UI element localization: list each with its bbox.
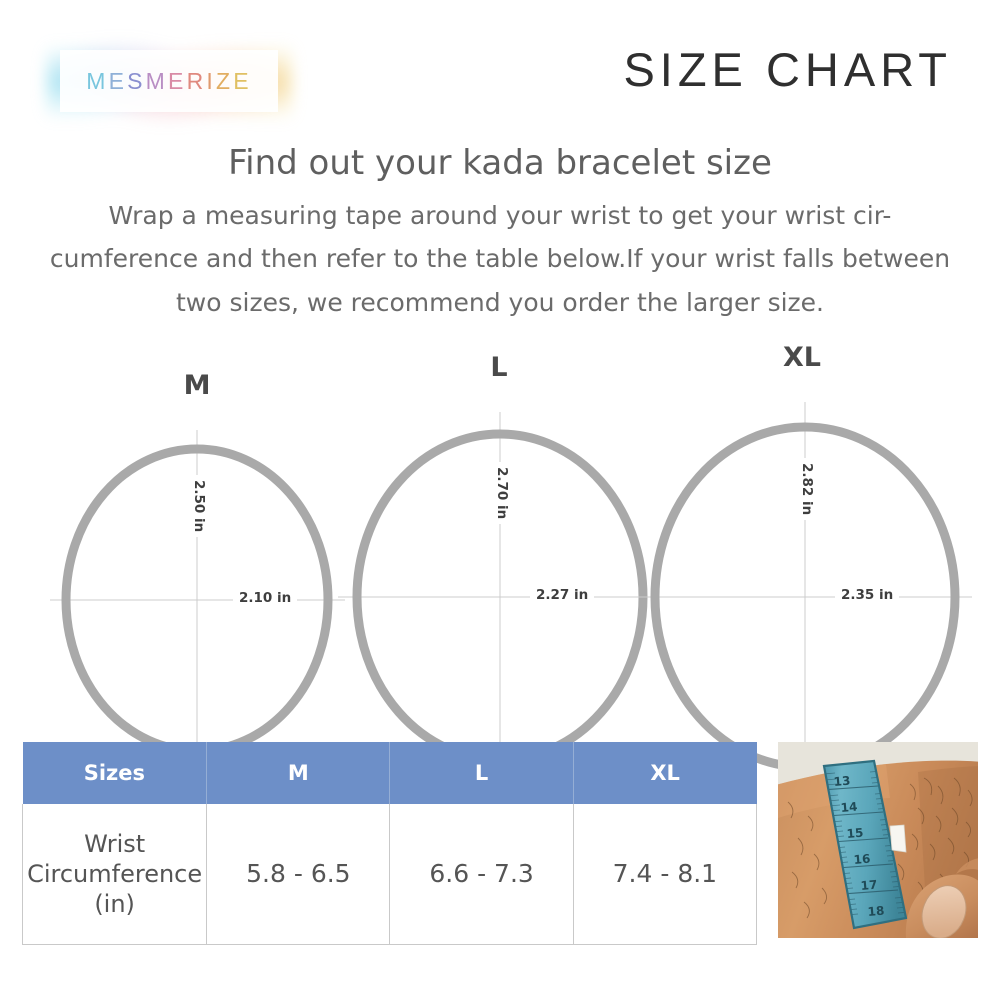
oval-width-m: 2.10 in	[233, 589, 297, 607]
svg-text:18: 18	[867, 904, 885, 919]
oval-height-m: 2.50 in	[190, 475, 208, 537]
svg-text:14: 14	[840, 800, 858, 815]
oval-figure-m: M 2.50 in 2.10 in	[30, 370, 365, 770]
svg-text:17: 17	[860, 878, 878, 893]
table-header-sizes: Sizes	[23, 742, 207, 804]
table-row: Wrist Circumference (in) 5.8 - 6.5 6.6 -…	[23, 804, 757, 945]
logo-letter: E	[168, 68, 187, 95]
oval-height-xl: 2.82 in	[798, 458, 816, 520]
intro-block: Find out your kada bracelet size Wrap a …	[0, 142, 1000, 324]
svg-text:13: 13	[833, 774, 851, 789]
logo-letter: I	[206, 68, 216, 95]
intro-paragraph: Wrap a measuring tape around your wrist …	[48, 194, 953, 325]
oval-figure-xl: XL 2.82 in 2.35 in	[620, 342, 990, 770]
oval-width-l: 2.27 in	[530, 586, 594, 604]
cell-wrist-circumference-l: 6.6 - 7.3	[390, 804, 573, 945]
row-label-wrist-circumference: Wrist Circumference (in)	[23, 804, 207, 945]
logo-letter: Z	[216, 68, 233, 95]
table-header-row: Sizes M L XL	[23, 742, 757, 804]
logo-letter: S	[127, 68, 146, 95]
logo-letter: R	[187, 68, 207, 95]
svg-text:15: 15	[846, 826, 864, 841]
oval-height-l: 2.70 in	[493, 462, 511, 524]
table-header-m: M	[207, 742, 390, 804]
oval-diagrams: M 2.50 in 2.10 in L 2.70 in 2.27 in XL 2…	[0, 340, 1000, 740]
wrist-measurement-photo: 13 14 15 16 17 18	[778, 742, 978, 938]
oval-width-xl: 2.35 in	[835, 586, 899, 604]
brand-logo: M E S M E R I Z E	[46, 36, 292, 128]
logo-letter: M	[86, 68, 108, 95]
logo-letter: E	[109, 68, 128, 95]
logo-letter: E	[233, 68, 252, 95]
intro-heading: Find out your kada bracelet size	[0, 142, 1000, 186]
cell-wrist-circumference-xl: 7.4 - 8.1	[573, 804, 756, 945]
wrist-photo-illustration: 13 14 15 16 17 18	[778, 742, 978, 938]
page-title: SIZE CHART	[623, 42, 952, 97]
logo-wordmark: M E S M E R I Z E	[60, 50, 278, 112]
table-header-l: L	[390, 742, 573, 804]
oval-shape-xl	[620, 342, 990, 770]
size-table: Sizes M L XL Wrist Circumference (in) 5.…	[22, 742, 757, 945]
svg-text:16: 16	[853, 852, 871, 867]
oval-shape-m	[30, 370, 365, 770]
logo-letter: M	[146, 68, 168, 95]
cell-wrist-circumference-m: 5.8 - 6.5	[207, 804, 390, 945]
table-header-xl: XL	[573, 742, 756, 804]
